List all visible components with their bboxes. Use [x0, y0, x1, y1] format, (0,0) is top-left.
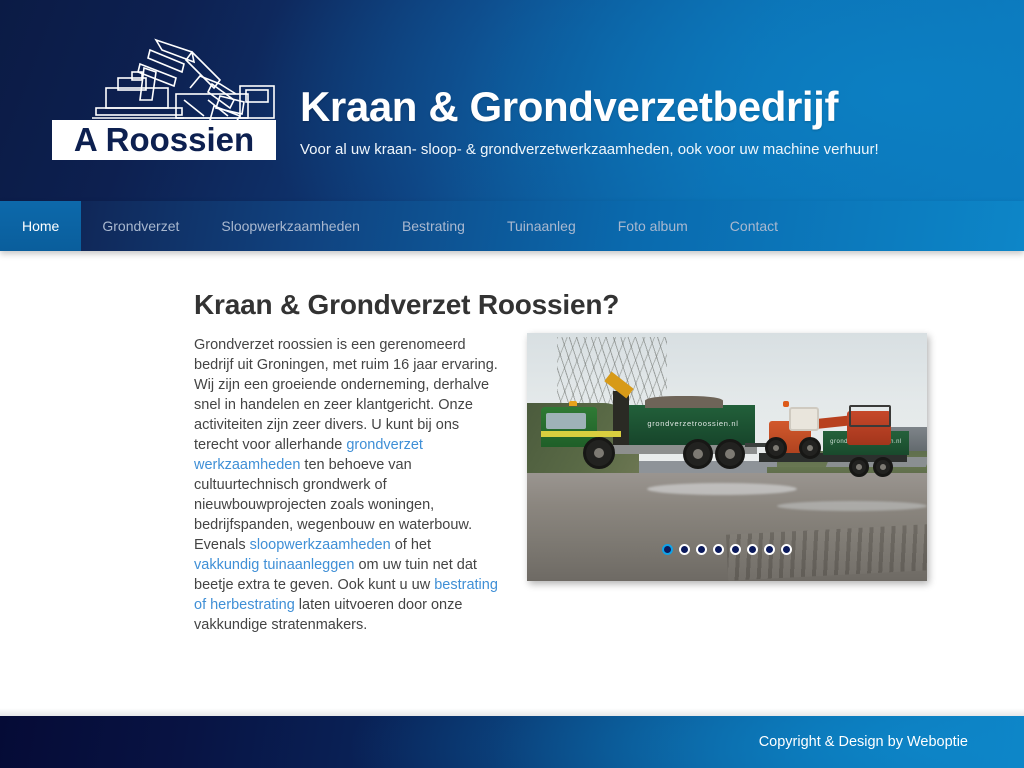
main-navigation[interactable]: Home Grondverzet Sloopwerkzaamheden Best…	[0, 201, 1024, 251]
truck-body-caption: grondverzetroossien.nl	[631, 419, 755, 428]
nav-item-bestrating[interactable]: Bestrating	[381, 201, 486, 251]
red-machine-cage	[849, 405, 891, 427]
truck-crane-column	[613, 391, 629, 447]
header-text-block: Kraan & Grondverzetbedrijf Voor al uw kr…	[300, 82, 1000, 161]
nav-item-foto-album[interactable]: Foto album	[597, 201, 709, 251]
truck-wheel-mid	[683, 439, 713, 469]
nav-item-contact[interactable]: Contact	[709, 201, 799, 251]
nav-item-tuinaanleg[interactable]: Tuinaanleg	[486, 201, 597, 251]
site-footer: Copyright & Design by Weboptie	[0, 716, 1024, 768]
image-slider[interactable]: grondverzetroossien.nl grondverzetr	[527, 333, 927, 581]
site-header: A Roossien Kraan & Grondverzetbedrijf Vo…	[0, 0, 1024, 201]
intro-paragraph: Grondverzet roossien is een gerenomeerd …	[194, 335, 498, 635]
slider-dot-8[interactable]	[781, 544, 792, 555]
footer-top-shadow	[0, 708, 1024, 716]
main-content: Kraan & Grondverzet Roossien? Grondverze…	[0, 251, 1024, 716]
logo-wordmark: A Roossien	[74, 121, 254, 158]
nav-item-sloopwerkzaamheden[interactable]: Sloopwerkzaamheden	[200, 201, 381, 251]
slider-dot-4[interactable]	[713, 544, 724, 555]
truck-yellow-stripe	[541, 431, 621, 437]
slider-dot-1[interactable]	[662, 544, 673, 555]
link-sloopwerkzaamheden[interactable]: sloopwerkzaamheden	[250, 537, 391, 553]
truck-beacon-light	[569, 401, 577, 406]
loader-wheel-front	[765, 437, 787, 459]
content-inner: Kraan & Grondverzet Roossien? Grondverze…	[0, 251, 1024, 716]
trailer-wheel-2	[873, 457, 893, 477]
truck-load	[645, 396, 723, 408]
page-root: A Roossien Kraan & Grondverzetbedrijf Vo…	[0, 0, 1024, 768]
intro-text-part1: Grondverzet roossien is een gerenomeerd …	[194, 337, 498, 453]
excavator-logo-icon: A Roossien	[44, 28, 284, 160]
slider-dot-7[interactable]	[764, 544, 775, 555]
nav-item-home[interactable]: Home	[0, 201, 81, 251]
truck-wheel-front	[583, 437, 615, 469]
nav-item-grondverzet[interactable]: Grondverzet	[81, 201, 200, 251]
photo-puddle-2	[777, 501, 927, 511]
truck-windscreen	[546, 413, 586, 429]
wheel-loader-beacon	[783, 401, 789, 407]
slider-dot-3[interactable]	[696, 544, 707, 555]
header-inner: A Roossien Kraan & Grondverzetbedrijf Vo…	[0, 0, 1024, 201]
link-vakkundig-tuinaanleggen[interactable]: vakkundig tuinaanleggen	[194, 557, 354, 573]
slider-dot-2[interactable]	[679, 544, 690, 555]
slider-dot-6[interactable]	[747, 544, 758, 555]
loader-wheel-rear	[799, 437, 821, 459]
wheel-loader-cab	[789, 407, 819, 431]
slider-dots[interactable]	[527, 544, 927, 555]
trailer-wheel-1	[849, 457, 869, 477]
footer-copyright: Copyright & Design by Weboptie	[759, 734, 968, 750]
nav-list: Home Grondverzet Sloopwerkzaamheden Best…	[0, 201, 1024, 251]
slider-dot-5[interactable]	[730, 544, 741, 555]
page-title: Kraan & Grondverzet Roossien?	[194, 289, 619, 321]
photo-puddle-1	[647, 483, 797, 495]
intro-text-part3: of het	[391, 537, 431, 553]
intro-column: Grondverzet roossien is een gerenomeerd …	[194, 335, 498, 635]
site-title: Kraan & Grondverzetbedrijf	[300, 82, 1000, 132]
truck-wheel-rear	[715, 439, 745, 469]
site-logo[interactable]: A Roossien	[44, 28, 284, 160]
site-tagline: Voor al uw kraan- sloop- & grondverzetwe…	[300, 138, 900, 161]
